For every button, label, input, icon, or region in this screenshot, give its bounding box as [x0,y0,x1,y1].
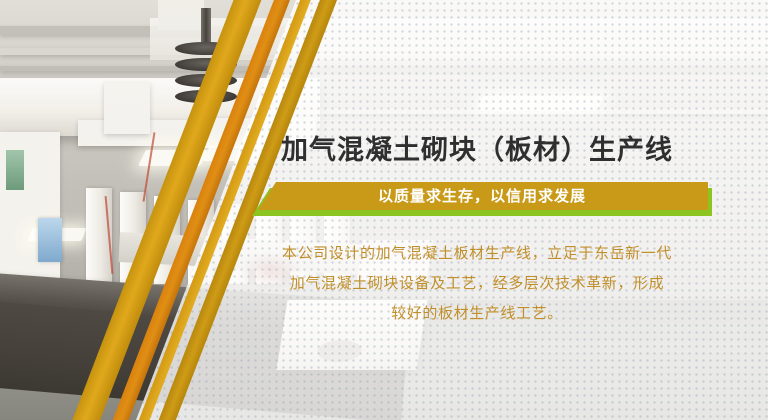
banner-subtitle-text: 以质量求生存，以信用求发展 [252,182,712,210]
description-line-2: 加气混凝土砌块设备及工艺，经多层次技术革新，形成 [234,268,720,298]
banner-content: 加气混凝土砌块（板材）生产线 以质量求生存，以信用求发展 本公司设计的加气混凝土… [232,0,722,420]
description-line-1: 本公司设计的加气混凝土板材生产线，立足于东岳新一代 [234,238,720,268]
banner-subtitle-bar: 以质量求生存，以信用求发展 [252,182,712,216]
banner-title: 加气混凝土砌块（板材）生产线 [232,128,722,167]
banner-description: 本公司设计的加气混凝土板材生产线，立足于东岳新一代 加气混凝土砌块设备及工艺，经… [234,238,720,328]
description-line-3: 较好的板材生产线工艺。 [234,298,720,328]
promo-banner: 加气混凝土砌块（板材）生产线 以质量求生存，以信用求发展 本公司设计的加气混凝土… [0,0,768,420]
